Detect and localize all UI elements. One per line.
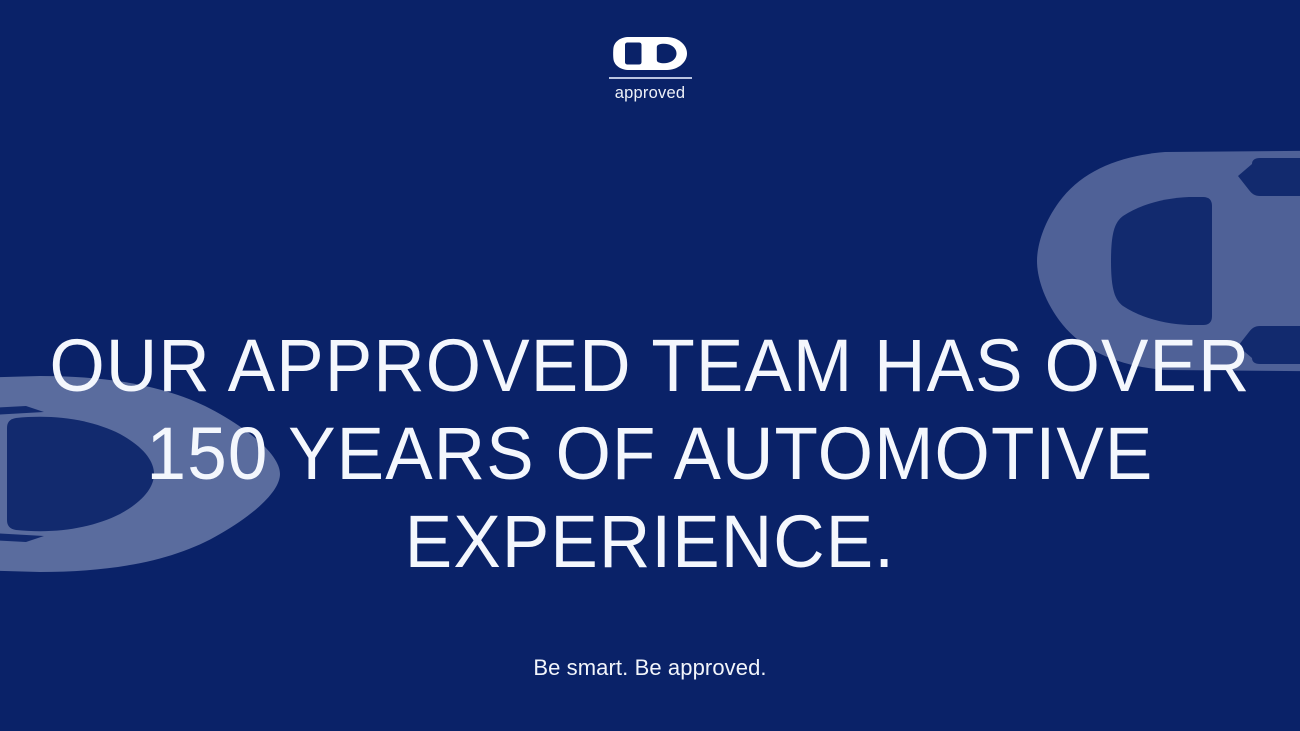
brand-logo: approved (595, 37, 705, 101)
page-title: OUR APPROVED TEAM HAS OVER 150 YEARS OF … (0, 322, 1300, 586)
car-top-view-icon (613, 37, 687, 70)
logo-divider (609, 77, 692, 79)
logo-wordmark: approved (615, 85, 685, 102)
tagline: Be smart. Be approved. (0, 655, 1300, 681)
headline-line-2: 150 YEARS OF AUTOMOTIVE (26, 410, 1274, 498)
slide-canvas: approved OUR APPROVED TEAM HAS OVER 150 … (0, 0, 1300, 731)
headline-line-3: EXPERIENCE. (26, 498, 1274, 586)
headline-line-1: OUR APPROVED TEAM HAS OVER (26, 322, 1274, 410)
